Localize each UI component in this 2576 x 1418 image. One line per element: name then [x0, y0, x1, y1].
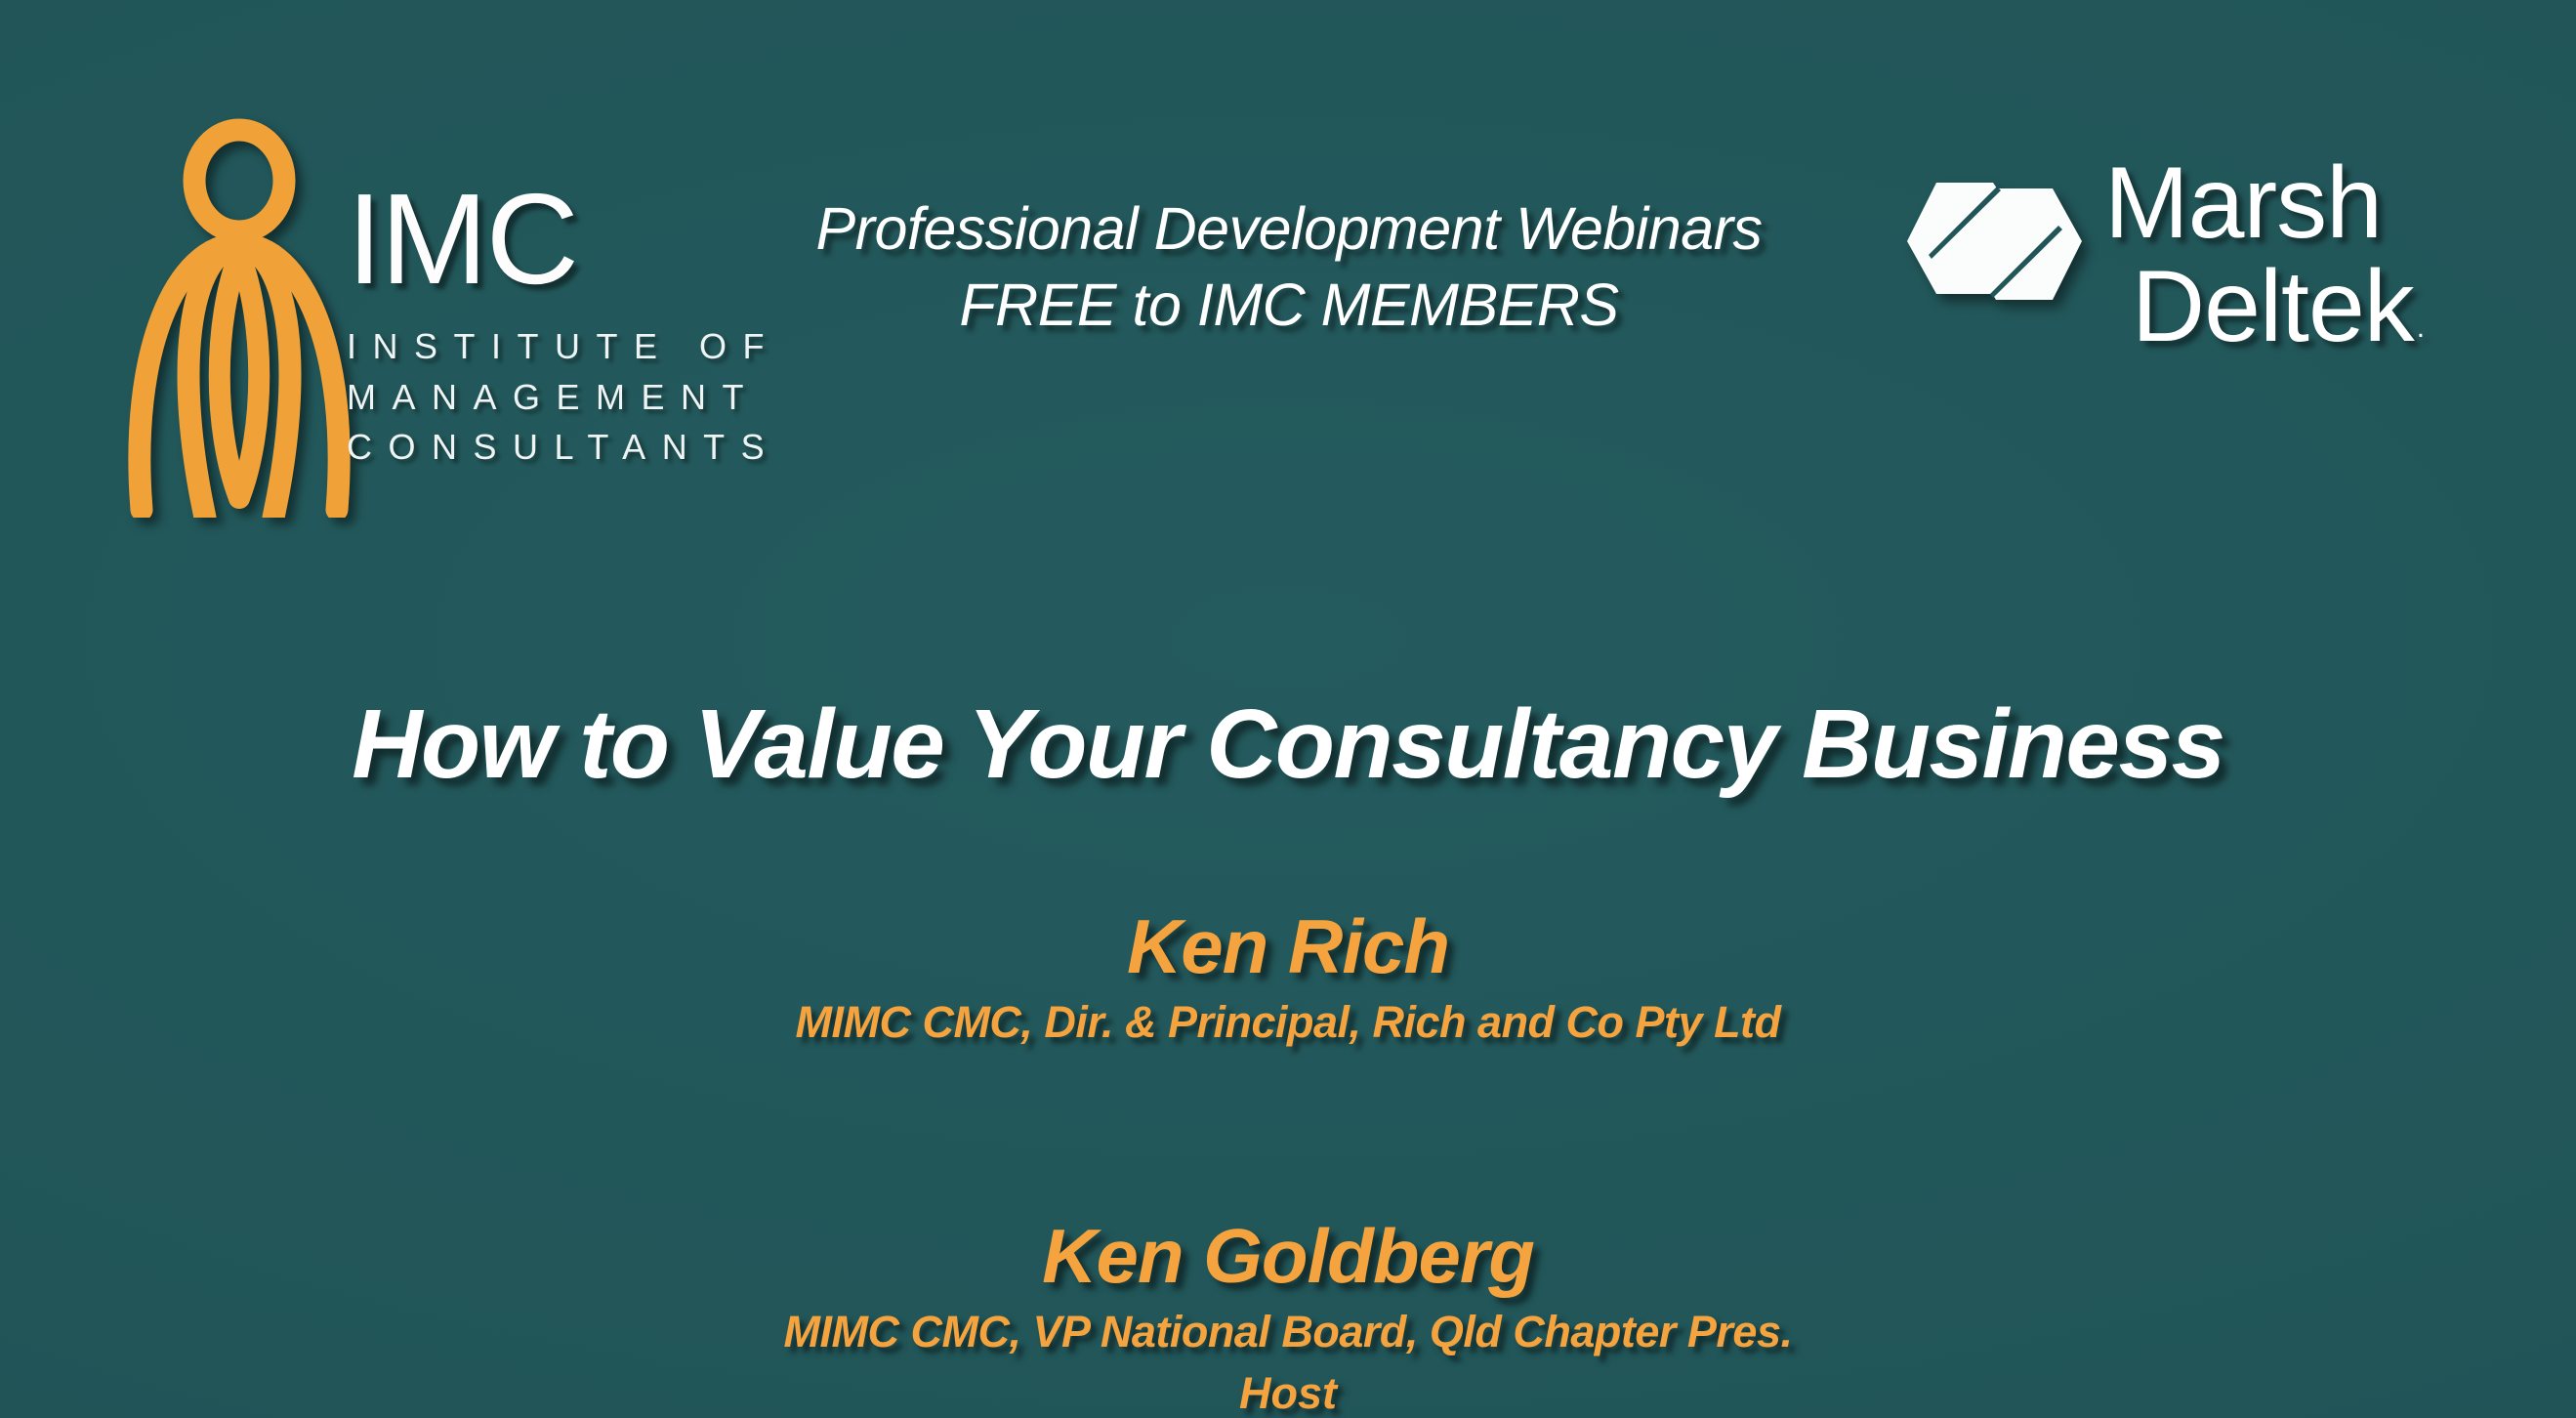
imc-subtitle-line-3: CONSULTANTS: [347, 422, 796, 472]
speaker-block: Ken Rich MIMC CMC, Dir. & Principal, Ric…: [0, 908, 2576, 1044]
marsh-wordmark: Marsh Deltek.: [2104, 151, 2514, 358]
speaker-role: Host: [0, 1371, 2576, 1415]
promo-line-2: FREE to IMC MEMBERS: [742, 267, 1836, 343]
marsh-word-line-1: Marsh: [2104, 151, 2514, 255]
deltek-trademark-icon: .: [2417, 312, 2424, 344]
deltek-text: Deltek: [2132, 250, 2414, 363]
marsh-word-line-2: Deltek.: [2132, 255, 2542, 358]
imc-letters: IMC: [347, 178, 796, 300]
speaker-credentials: MIMC CMC, Dir. & Principal, Rich and Co …: [0, 1000, 2576, 1044]
imc-wordmark: IMC INSTITUTE OF MANAGEMENT CONSULTANTS: [347, 178, 796, 472]
imc-logo: IMC INSTITUTE OF MANAGEMENT CONSULTANTS: [117, 107, 801, 518]
presentation-slide: IMC INSTITUTE OF MANAGEMENT CONSULTANTS …: [0, 0, 2576, 1418]
imc-subtitle: INSTITUTE OF MANAGEMENT CONSULTANTS: [347, 321, 796, 471]
promo-line-1: Professional Development Webinars: [742, 190, 1836, 267]
speaker-credentials: MIMC CMC, VP National Board, Qld Chapter…: [0, 1310, 2576, 1354]
imc-subtitle-line-2: MANAGEMENT: [347, 372, 796, 422]
webinar-promo-text: Professional Development Webinars FREE t…: [742, 190, 1836, 343]
speaker-name: Ken Rich: [0, 908, 2576, 984]
speakers-section: Ken Rich MIMC CMC, Dir. & Principal, Ric…: [0, 908, 2576, 1415]
page-title: How to Value Your Consultancy Business: [0, 688, 2576, 801]
marsh-deltek-logo: Marsh Deltek.: [1899, 151, 2505, 415]
imc-subtitle-line-1: INSTITUTE OF: [347, 321, 796, 371]
imc-person-mark-icon: [117, 107, 361, 518]
speaker-block: Ken Goldberg MIMC CMC, VP National Board…: [0, 1218, 2576, 1415]
slide-header: IMC INSTITUTE OF MANAGEMENT CONSULTANTS …: [0, 0, 2576, 547]
speaker-name: Ken Goldberg: [0, 1218, 2576, 1294]
marsh-hexagon-mark-icon: [1899, 169, 2090, 315]
